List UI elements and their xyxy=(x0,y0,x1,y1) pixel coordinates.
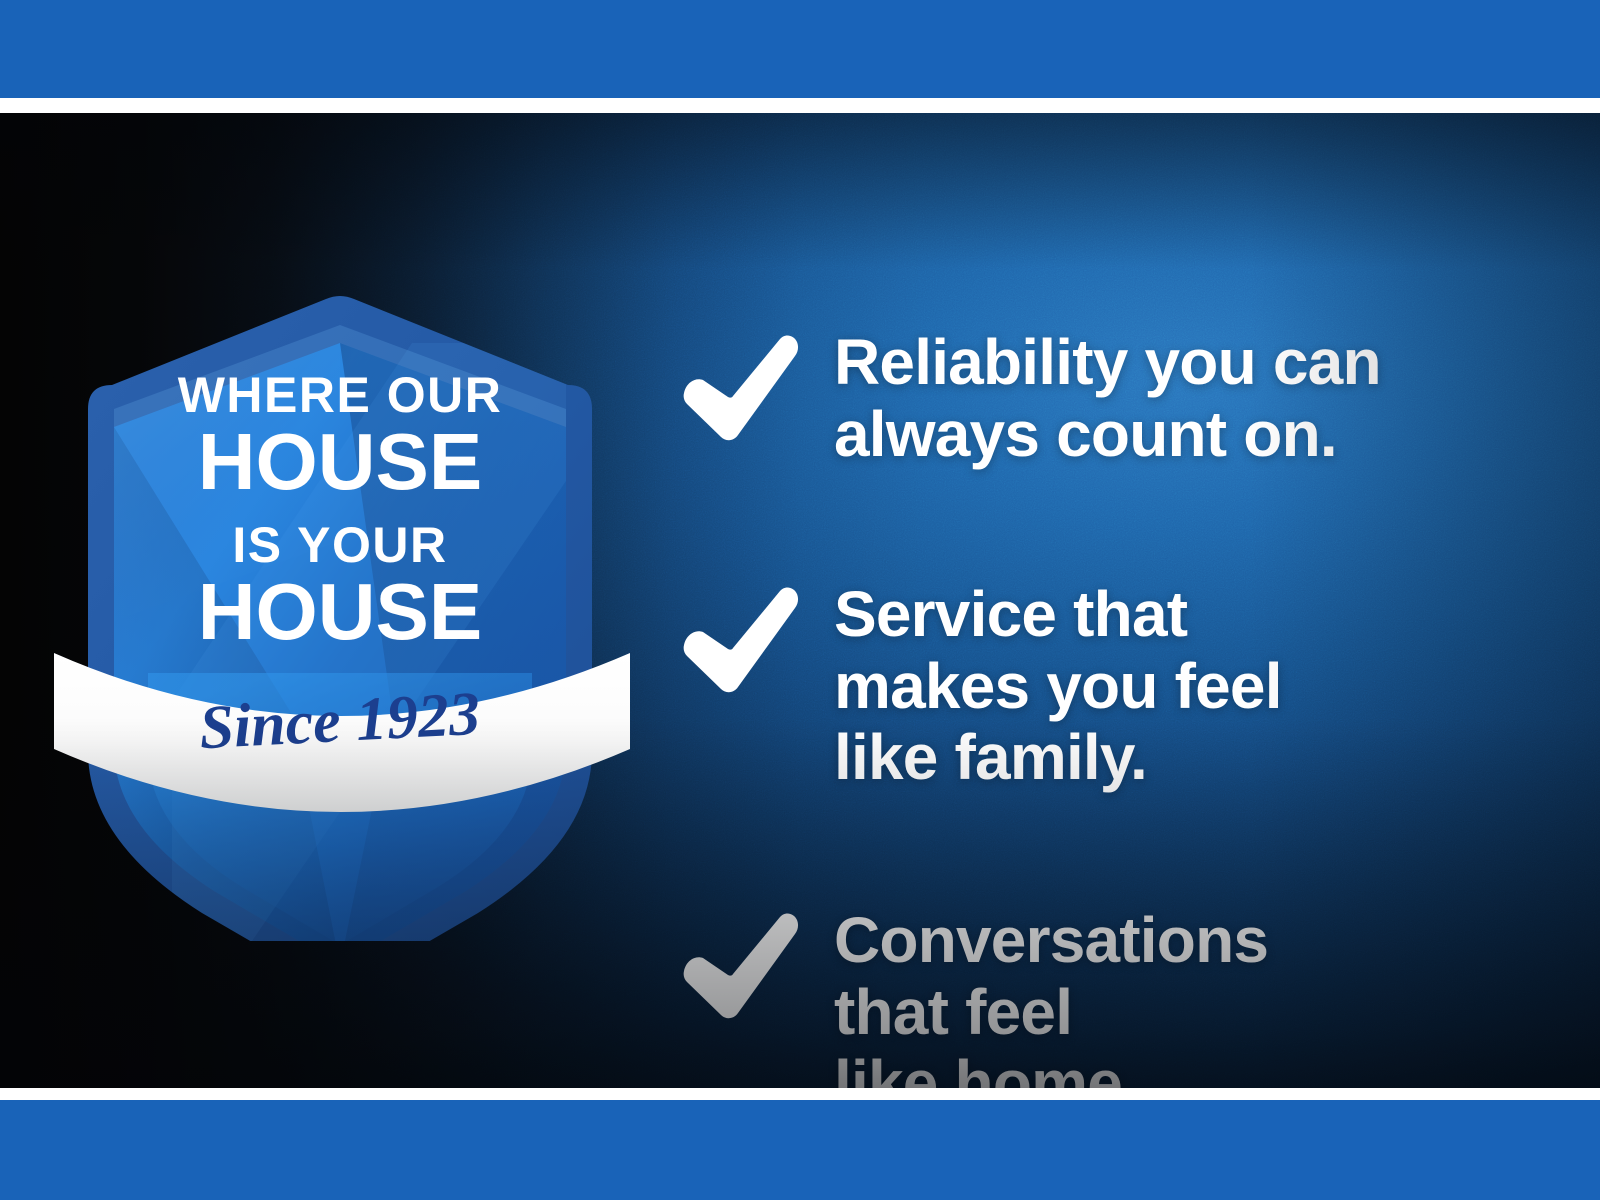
list-item-text: Service that makes you feel like family. xyxy=(834,579,1532,794)
promo-poster: WHERE OUR HOUSE IS YOUR HOUSE Since 1923 xyxy=(0,0,1600,1200)
list-item: Reliability you can always count on. xyxy=(672,327,1532,470)
checkmark-icon xyxy=(672,583,802,701)
list-item-text: Conversations that feel like home. xyxy=(834,905,1532,1088)
checkmark-icon xyxy=(672,331,802,449)
top-brand-bar xyxy=(0,0,1600,98)
bottom-brand-bar xyxy=(0,1100,1600,1200)
poster-canvas: WHERE OUR HOUSE IS YOUR HOUSE Since 1923 xyxy=(0,113,1600,1088)
list-item: Conversations that feel like home. xyxy=(672,905,1532,1088)
badge-line-3: IS YOUR xyxy=(232,517,447,573)
badge-line-2: HOUSE xyxy=(198,417,483,506)
badge-line-1: WHERE OUR xyxy=(178,367,503,423)
checkmark-icon xyxy=(672,909,802,1027)
badge-line-4: HOUSE xyxy=(198,567,483,656)
shield-badge: WHERE OUR HOUSE IS YOUR HOUSE Since 1923 xyxy=(52,281,632,941)
list-item-text: Reliability you can always count on. xyxy=(834,327,1532,470)
benefits-list: Reliability you can always count on. Ser… xyxy=(672,226,1532,1088)
list-item: Service that makes you feel like family. xyxy=(672,579,1532,794)
